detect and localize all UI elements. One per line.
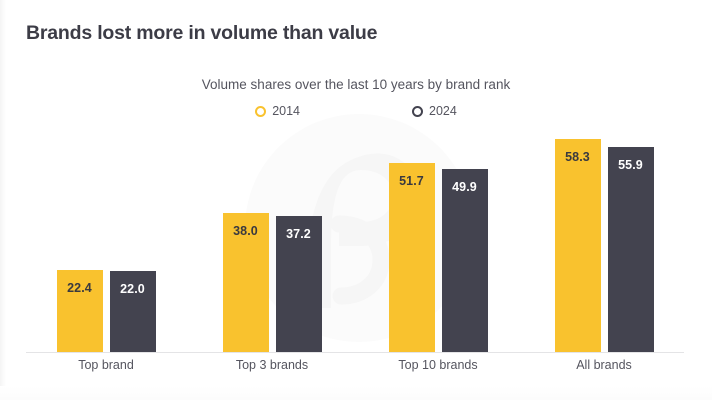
bar-value-label: 22.4 — [57, 281, 103, 295]
bar-2024-all-brands[interactable]: 55.9 — [608, 147, 654, 352]
legend-item-2024[interactable]: 2024 — [412, 104, 457, 118]
bar-2014-top-10-brands[interactable]: 51.7 — [389, 163, 435, 352]
ring-marker-2024-icon — [412, 106, 423, 117]
bar-group-all-brands: 58.3 55.9 — [524, 125, 684, 352]
bar-groups: 22.4 22.0 38.0 37.2 51.7 49.9 58.3 — [26, 125, 684, 352]
chart-subtitle: Volume shares over the last 10 years by … — [0, 77, 712, 92]
bar-value-label: 37.2 — [276, 227, 322, 241]
legend-label-2014: 2014 — [272, 104, 300, 118]
bar-2014-all-brands[interactable]: 58.3 — [555, 139, 601, 352]
category-label-all-brands: All brands — [524, 358, 684, 372]
legend-item-2014[interactable]: 2014 — [255, 104, 300, 118]
bar-group-top-brand: 22.4 22.0 — [26, 125, 186, 352]
bar-value-label: 22.0 — [110, 282, 156, 296]
bar-2014-top-3-brands[interactable]: 38.0 — [223, 213, 269, 352]
bar-value-label: 38.0 — [223, 224, 269, 238]
x-axis-line — [26, 352, 684, 353]
legend-label-2024: 2024 — [429, 104, 457, 118]
bar-value-label: 55.9 — [608, 158, 654, 172]
bar-value-label: 58.3 — [555, 150, 601, 164]
category-label-top-3-brands: Top 3 brands — [192, 358, 352, 372]
bottom-edge-fade — [0, 386, 712, 400]
bar-2024-top-3-brands[interactable]: 37.2 — [276, 216, 322, 352]
category-label-top-brand: Top brand — [26, 358, 186, 372]
x-axis-category-labels: Top brand Top 3 brands Top 10 brands All… — [26, 358, 684, 372]
bar-2024-top-10-brands[interactable]: 49.9 — [442, 169, 488, 352]
page-title: Brands lost more in volume than value — [26, 22, 377, 45]
bar-2024-top-brand[interactable]: 22.0 — [110, 271, 156, 352]
bar-group-top-10-brands: 51.7 49.9 — [358, 125, 518, 352]
left-edge-strip — [0, 0, 6, 400]
ring-marker-2014-icon — [255, 106, 266, 117]
chart-canvas: Brands lost more in volume than value Vo… — [0, 0, 712, 400]
bar-value-label: 49.9 — [442, 180, 488, 194]
bar-value-label: 51.7 — [389, 174, 435, 188]
chart-legend: 2014 2024 — [0, 104, 712, 118]
category-label-top-10-brands: Top 10 brands — [358, 358, 518, 372]
bar-2014-top-brand[interactable]: 22.4 — [57, 270, 103, 352]
bar-group-top-3-brands: 38.0 37.2 — [192, 125, 352, 352]
